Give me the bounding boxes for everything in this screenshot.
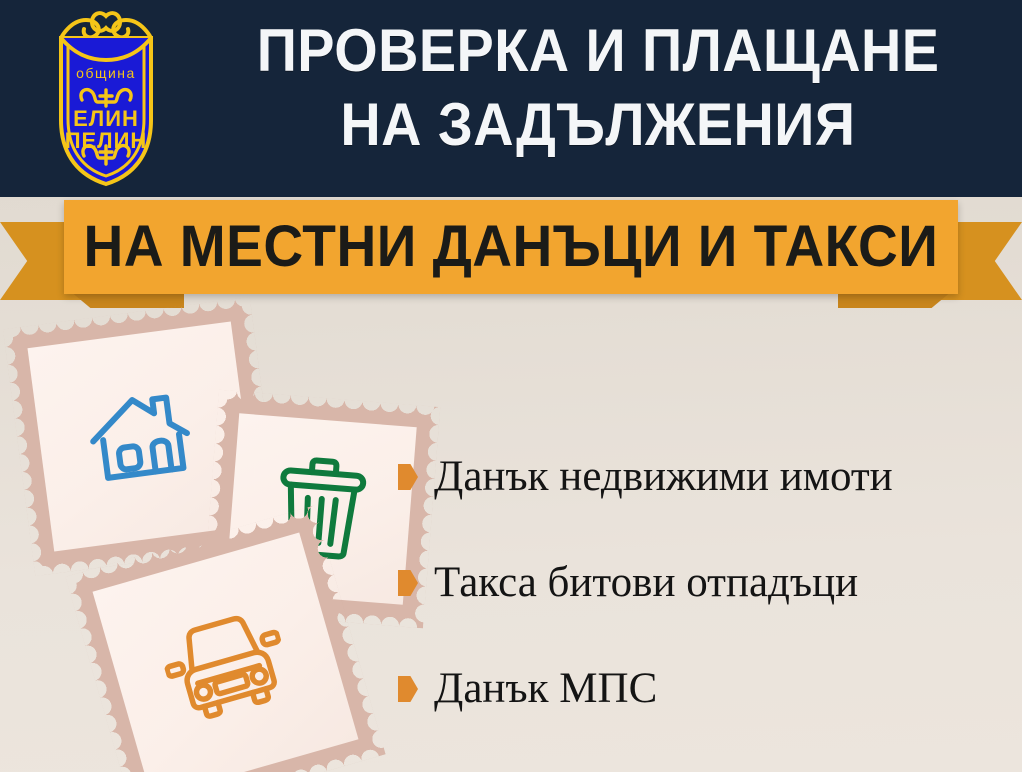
page-title: ПРОВЕРКА И ПЛАЩАНЕ НА ЗАДЪЛЖЕНИЯ xyxy=(184,14,1012,184)
arrow-bullet-icon xyxy=(398,676,418,702)
list-item-label: Такса битови отпадъци xyxy=(434,559,858,607)
list-item-label: Данък МПС xyxy=(434,665,657,713)
subtitle-ribbon: НА МЕСТНИ ДАНЪЦИ И ТАКСИ xyxy=(0,198,1022,316)
ribbon-banner: НА МЕСТНИ ДАНЪЦИ И ТАКСИ xyxy=(64,200,958,294)
house-icon xyxy=(80,380,204,494)
ribbon-text: НА МЕСТНИ ДАНЪЦИ И ТАКСИ xyxy=(84,217,939,277)
list-item[interactable]: Данък МПС xyxy=(398,636,1018,742)
arrow-bullet-icon xyxy=(398,464,418,490)
page-title-line-1: ПРОВЕРКА И ПЛАЩАНЕ xyxy=(257,14,940,88)
coat-of-arms-icon: община ЕЛИН ПЕЛИН xyxy=(36,8,176,190)
list-item[interactable]: Такса битови отпадъци xyxy=(398,530,1018,636)
stamp-paper-car xyxy=(93,533,359,772)
header-bar: община ЕЛИН ПЕЛИН ПРОВЕРКА И ПЛАЩАНЕ НА … xyxy=(0,0,1022,197)
arrow-bullet-icon xyxy=(398,570,418,596)
list-item[interactable]: Данък недвижими имоти xyxy=(398,424,1018,530)
crest-label-obshtina: община xyxy=(76,65,136,81)
list-item-label: Данък недвижими имоти xyxy=(434,453,893,501)
car-front-icon xyxy=(154,602,296,729)
poster-root: община ЕЛИН ПЕЛИН ПРОВЕРКА И ПЛАЩАНЕ НА … xyxy=(0,0,1022,772)
crest-label-pelin: ПЕЛИН xyxy=(65,128,148,153)
tax-type-list: Данък недвижими имоти Такса битови отпад… xyxy=(398,424,1018,742)
page-title-line-2: НА ЗАДЪЛЖЕНИЯ xyxy=(340,88,855,162)
